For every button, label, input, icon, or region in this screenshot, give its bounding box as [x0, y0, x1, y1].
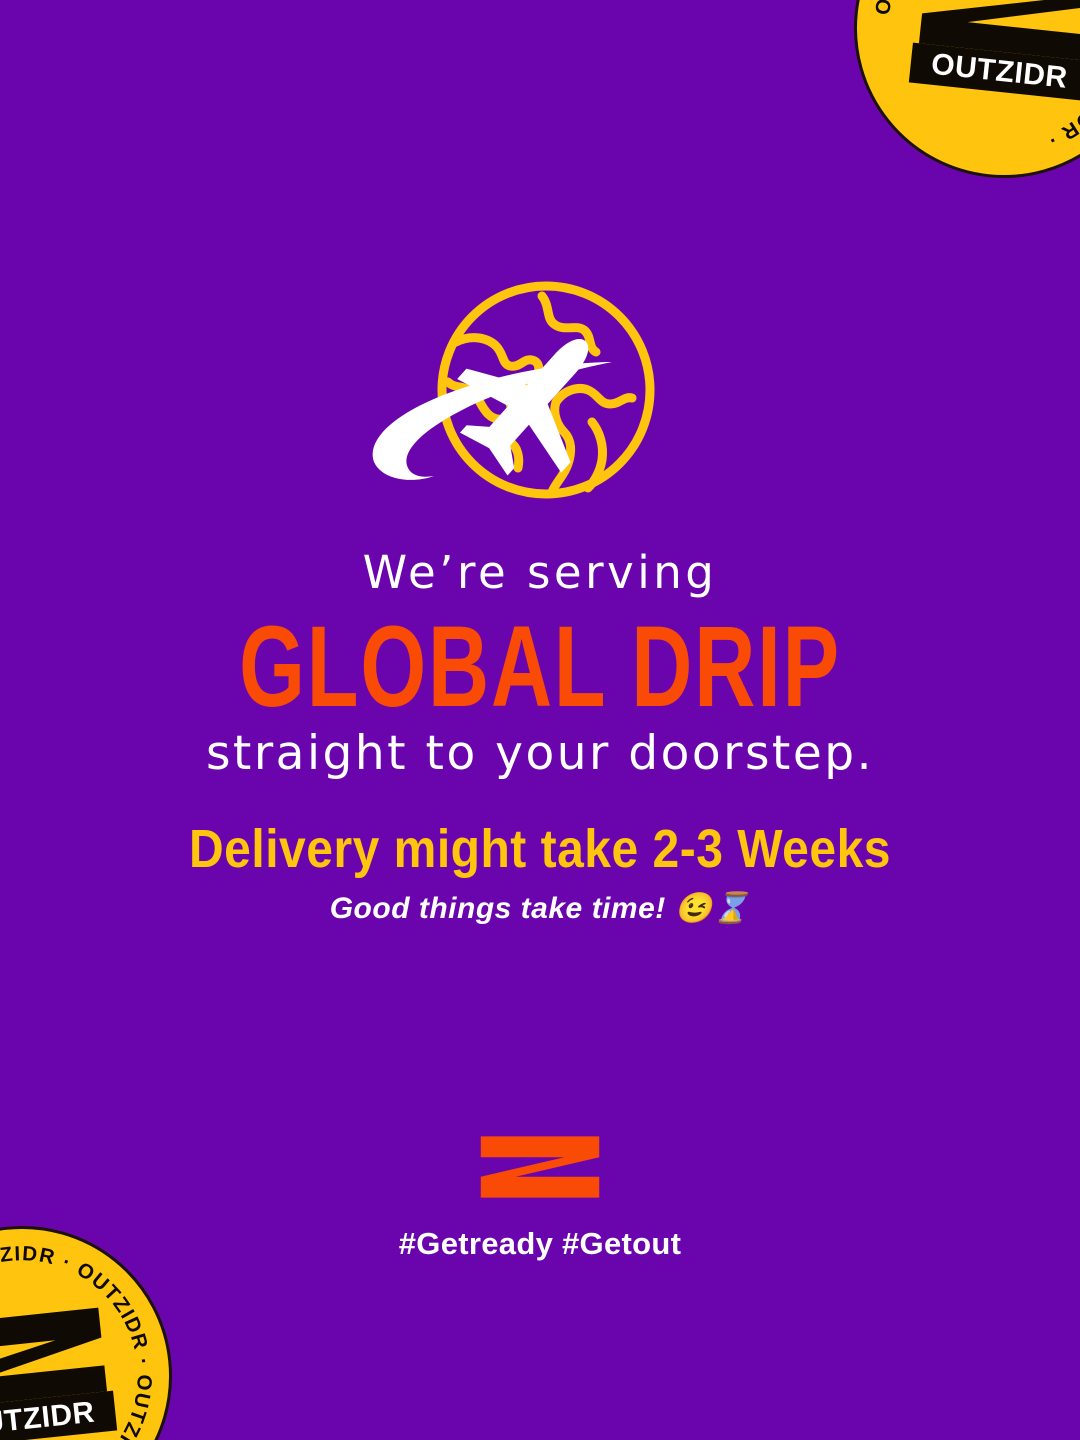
globe-airplane-svg: [360, 272, 720, 512]
outzidr-badge-top-right: OUTZIDR · OUTZIDR · OUTZIDR · OUTZIDR · …: [839, 0, 1080, 193]
footer-brand: #Getready #Getout: [0, 1122, 1080, 1262]
headline-block: We’re serving GLOBAL DRIP straight to yo…: [0, 548, 1080, 780]
outzidr-z-logo: [478, 1122, 602, 1212]
headline-line-1: We’re serving: [0, 548, 1080, 598]
footer-tagline: #Getready #Getout: [0, 1226, 1080, 1262]
badge-core-bottom-left: OUTZIDR: [0, 1303, 117, 1440]
delivery-note: Delivery might take 2-3 Weeks Good thing…: [0, 822, 1080, 926]
delivery-headline: Delivery might take 2-3 Weeks: [0, 819, 1080, 881]
promo-poster: OUTZIDR · OUTZIDR · OUTZIDR · OUTZIDR · …: [0, 0, 1080, 1440]
globe-airplane-icon: [360, 272, 720, 512]
delivery-subtext: Good things take time! 😉⌛: [0, 891, 1080, 926]
badge-wordmark: OUTZIDR: [0, 1396, 96, 1440]
headline-line-3: straight to your doorstep.: [0, 728, 1080, 781]
headline-line-2: GLOBAL DRIP: [43, 606, 1037, 730]
